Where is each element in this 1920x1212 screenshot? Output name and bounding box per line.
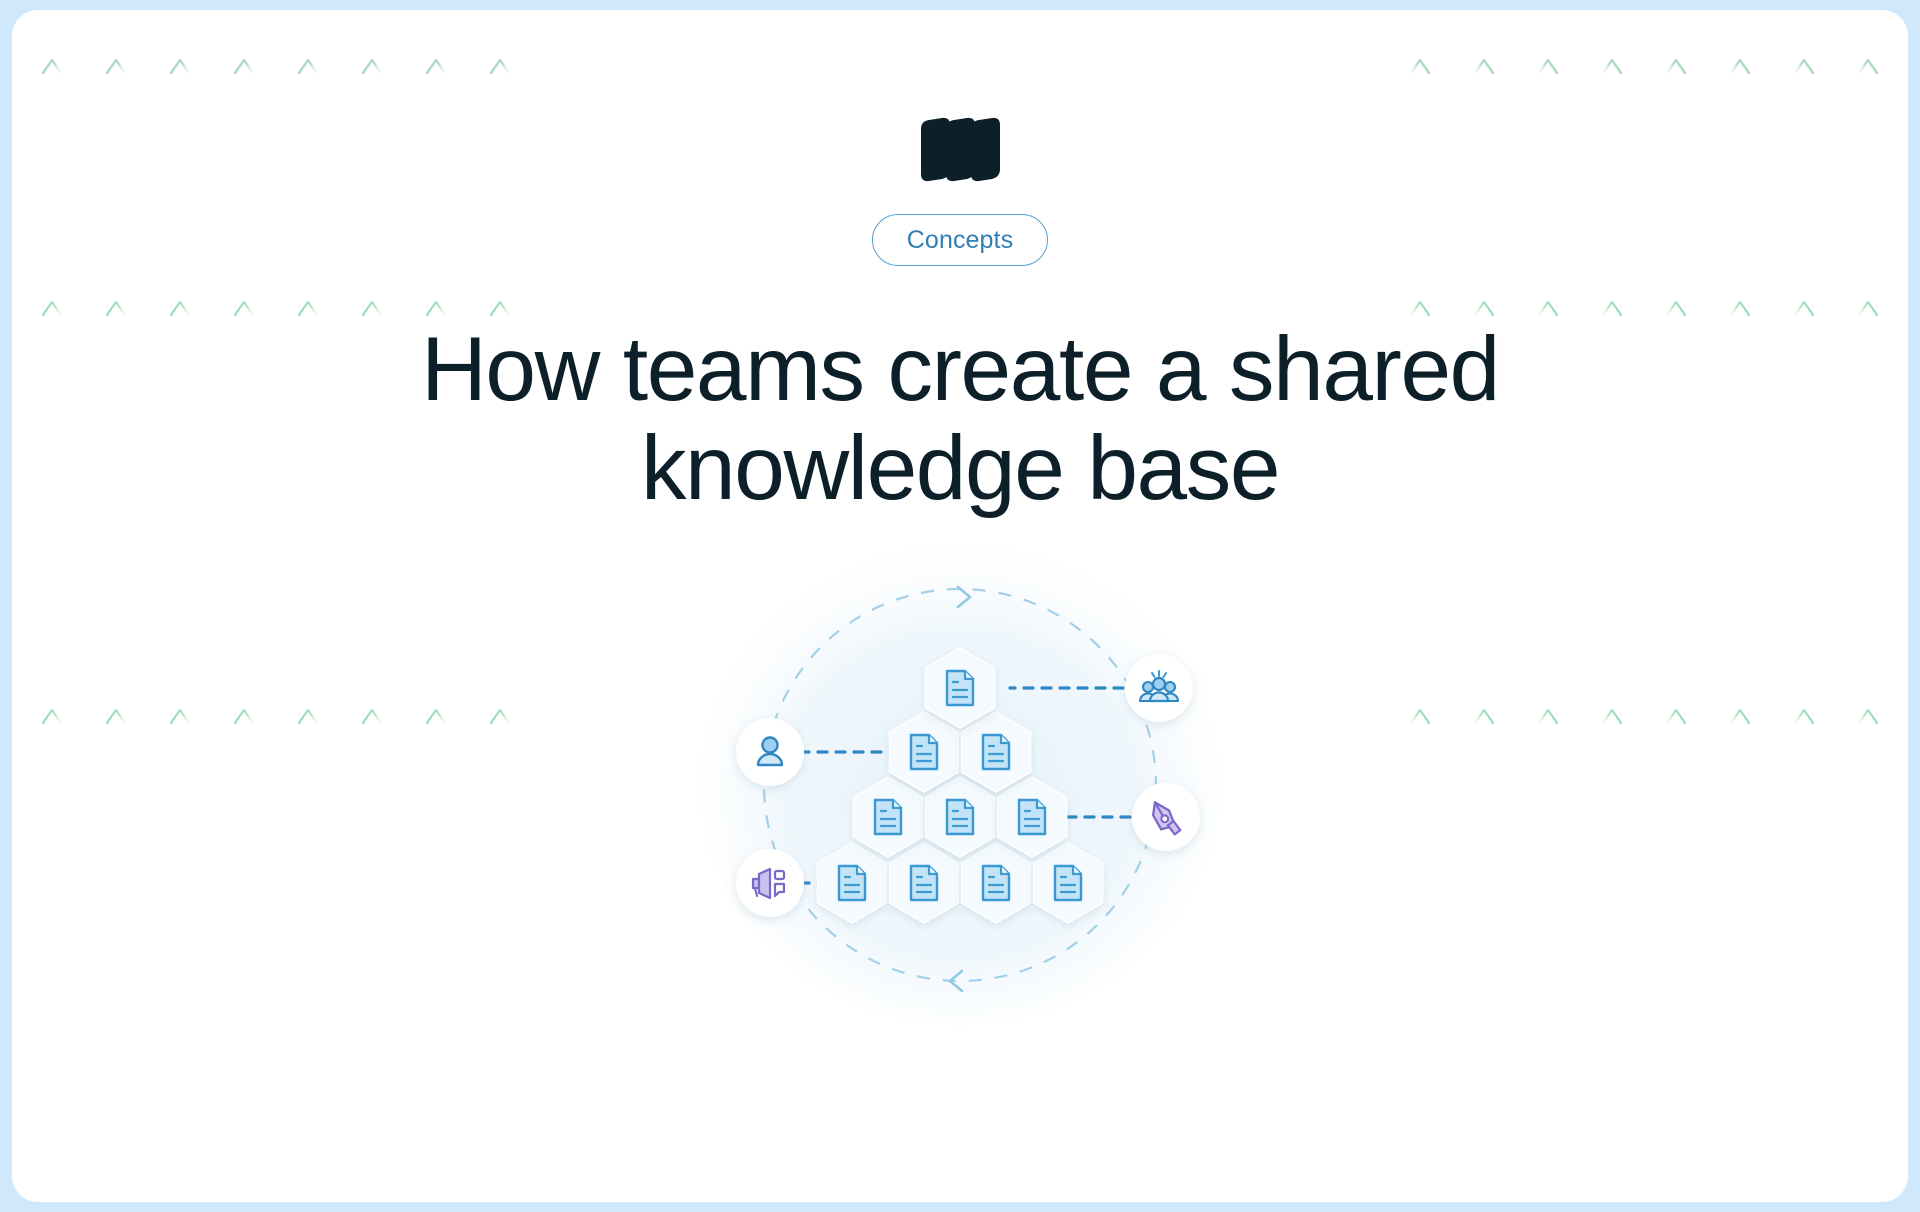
page-content: Concepts How teams create a shared knowl… — [12, 10, 1908, 1202]
knowledge-base-illustration — [610, 540, 1310, 1010]
brand-logo[interactable] — [900, 114, 1020, 186]
megaphone-node[interactable] — [736, 849, 804, 917]
person-node[interactable] — [736, 718, 804, 786]
page-frame: Concepts How teams create a shared knowl… — [0, 0, 1920, 1212]
content-card: Concepts How teams create a shared knowl… — [12, 10, 1908, 1202]
page-title-line-2: knowledge base — [320, 419, 1600, 518]
pen-node[interactable] — [1132, 783, 1200, 851]
team-node[interactable] — [1125, 654, 1193, 722]
page-title: How teams create a shared knowledge base — [320, 320, 1600, 518]
category-badge[interactable]: Concepts — [872, 214, 1048, 266]
page-title-line-1: How teams create a shared — [320, 320, 1600, 419]
category-badge-label: Concepts — [907, 228, 1013, 253]
